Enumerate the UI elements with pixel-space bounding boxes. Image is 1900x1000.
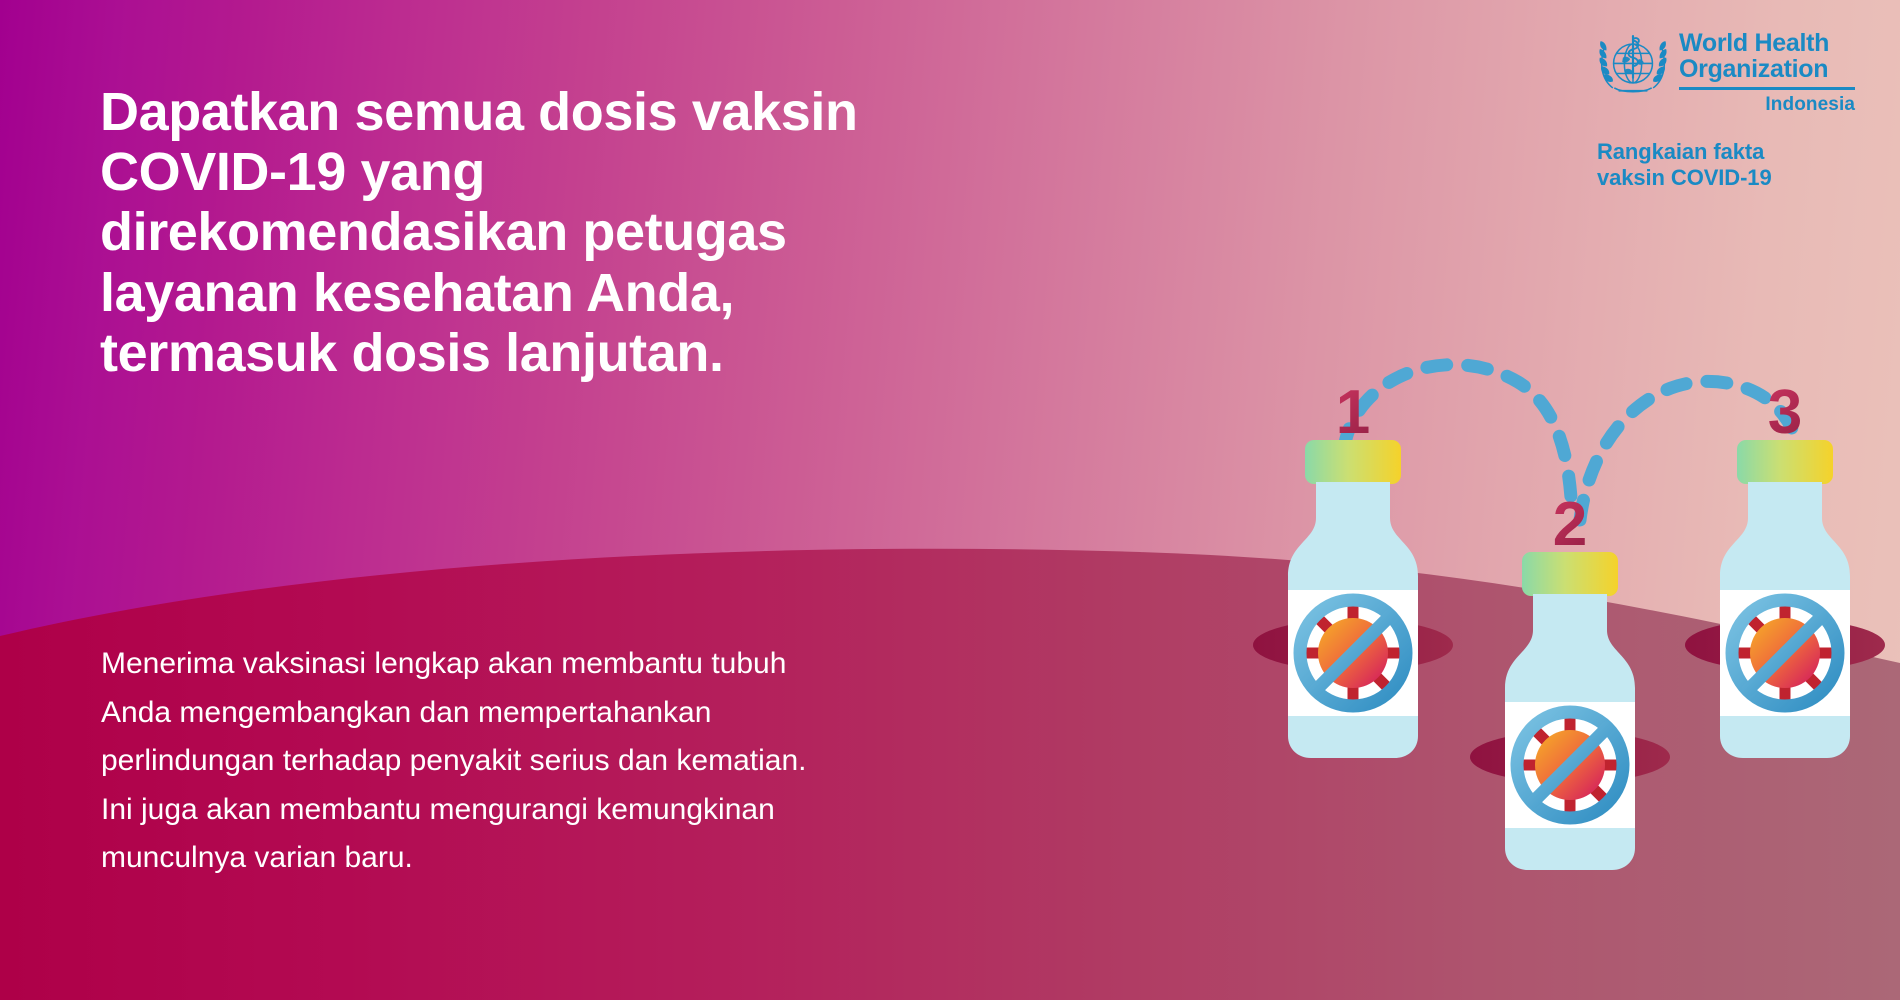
- page-title: Dapatkan semua dosis vaksin COVID-19 yan…: [100, 82, 980, 383]
- vaccine-vials-doses-illustration: 1 3 2: [1240, 330, 1900, 930]
- series-title: Rangkaian fakta vaksin COVID-19: [1597, 139, 1877, 191]
- vial-number-3: 3: [1768, 378, 1802, 447]
- body-paragraph: Menerima vaksinasi lengkap akan membantu…: [101, 640, 1001, 883]
- who-organization-name: World Health Organization: [1679, 30, 1855, 82]
- who-branding-block: World Health Organization Indonesia Rang…: [1597, 26, 1877, 191]
- poster-canvas: Dapatkan semua dosis vaksin COVID-19 yan…: [0, 0, 1900, 1000]
- who-country-label: Indonesia: [1679, 94, 1855, 116]
- vial-dose-1: 1: [1288, 378, 1418, 758]
- vial-number-2: 2: [1553, 490, 1587, 559]
- vial-dose-2: 2: [1505, 490, 1635, 870]
- who-emblem-icon: [1597, 26, 1669, 98]
- who-divider-rule: [1679, 87, 1855, 90]
- vial-number-1: 1: [1336, 378, 1370, 447]
- vial-dose-3: 3: [1720, 378, 1850, 758]
